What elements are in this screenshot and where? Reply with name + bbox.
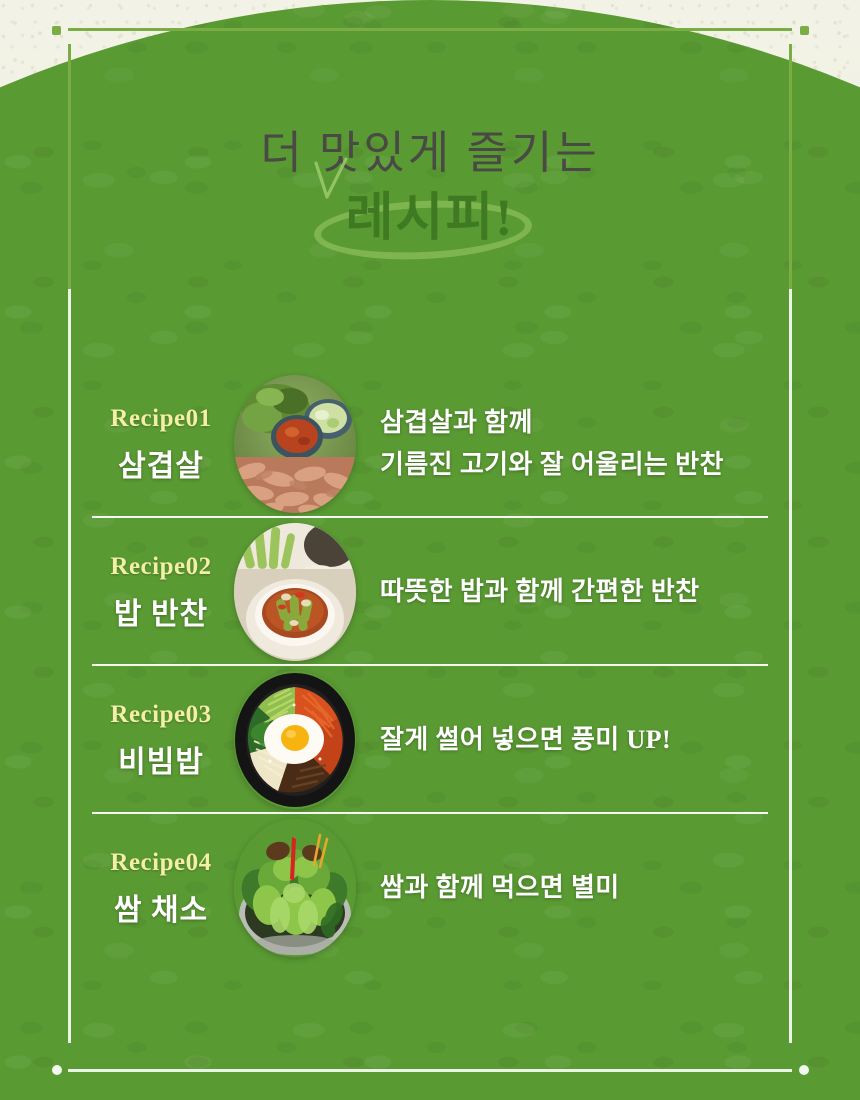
recipe-row-2[interactable]: Recipe02 밥 반찬 — [0, 518, 860, 666]
samgyeopsal-photo — [234, 375, 356, 513]
recipe-number-1: Recipe01 — [92, 405, 230, 433]
recipe-label-3: Recipe03 비빔밥 — [92, 701, 230, 780]
recipe-infographic-page: 더 맛있게 즐기는 레시피! Recipe01 삼겹살 — [0, 0, 860, 1100]
recipe-label-1: Recipe01 삼겹살 — [92, 405, 230, 484]
corner-square-top-right — [800, 26, 809, 35]
corner-square-top-left — [52, 26, 61, 35]
recipe-desc-4: 쌈과 함께 먹으면 별미 — [380, 867, 790, 909]
title-line-2-group: 레시피! — [320, 187, 541, 251]
title-line-1: 더 맛있게 즐기는 — [0, 126, 860, 181]
recipe-label-2: Recipe02 밥 반찬 — [92, 553, 230, 632]
recipe-row-3[interactable]: Recipe03 비빔밥 — [0, 666, 860, 814]
frame-line-top — [68, 28, 792, 31]
bap-banchan-photo — [234, 523, 356, 661]
corner-dot-bottom-right — [799, 1065, 809, 1075]
recipe-desc-3-line-1: 잘게 썰어 넣으면 풍미 UP! — [380, 719, 790, 761]
recipe-list: Recipe01 삼겹살 — [0, 370, 860, 962]
recipe-desc-2-line-1: 따뜻한 밥과 함께 간편한 반찬 — [380, 571, 790, 613]
recipe-desc-1: 삼겹살과 함께 기름진 고기와 잘 어울리는 반찬 — [380, 402, 790, 486]
recipe-desc-1-line-2: 기름진 고기와 잘 어울리는 반찬 — [380, 444, 790, 486]
recipe-number-3: Recipe03 — [92, 701, 230, 729]
recipe-number-2: Recipe02 — [92, 553, 230, 581]
recipe-desc-2: 따뜻한 밥과 함께 간편한 반찬 — [380, 571, 790, 613]
bibimbap-photo — [234, 671, 356, 809]
title-line-2: 레시피! — [320, 187, 541, 251]
ssam-chaeso-photo — [234, 819, 356, 957]
recipe-name-2: 밥 반찬 — [92, 598, 230, 631]
recipe-row-4[interactable]: Recipe04 쌈 채소 — [0, 814, 860, 962]
recipe-desc-4-line-1: 쌈과 함께 먹으면 별미 — [380, 867, 790, 909]
recipe-row-1[interactable]: Recipe01 삼겹살 — [0, 370, 860, 518]
recipe-number-4: Recipe04 — [92, 849, 230, 877]
corner-dot-bottom-left — [52, 1065, 62, 1075]
recipe-name-3: 비빔밥 — [92, 746, 230, 779]
recipe-desc-3: 잘게 썰어 넣으면 풍미 UP! — [380, 719, 790, 761]
frame-line-bottom — [68, 1069, 792, 1072]
recipe-name-1: 삼겹살 — [92, 450, 230, 483]
recipe-desc-1-line-1: 삼겹살과 함께 — [380, 402, 790, 444]
page-title: 더 맛있게 즐기는 레시피! — [0, 126, 860, 251]
recipe-label-4: Recipe04 쌈 채소 — [92, 849, 230, 928]
recipe-name-4: 쌈 채소 — [92, 894, 230, 927]
